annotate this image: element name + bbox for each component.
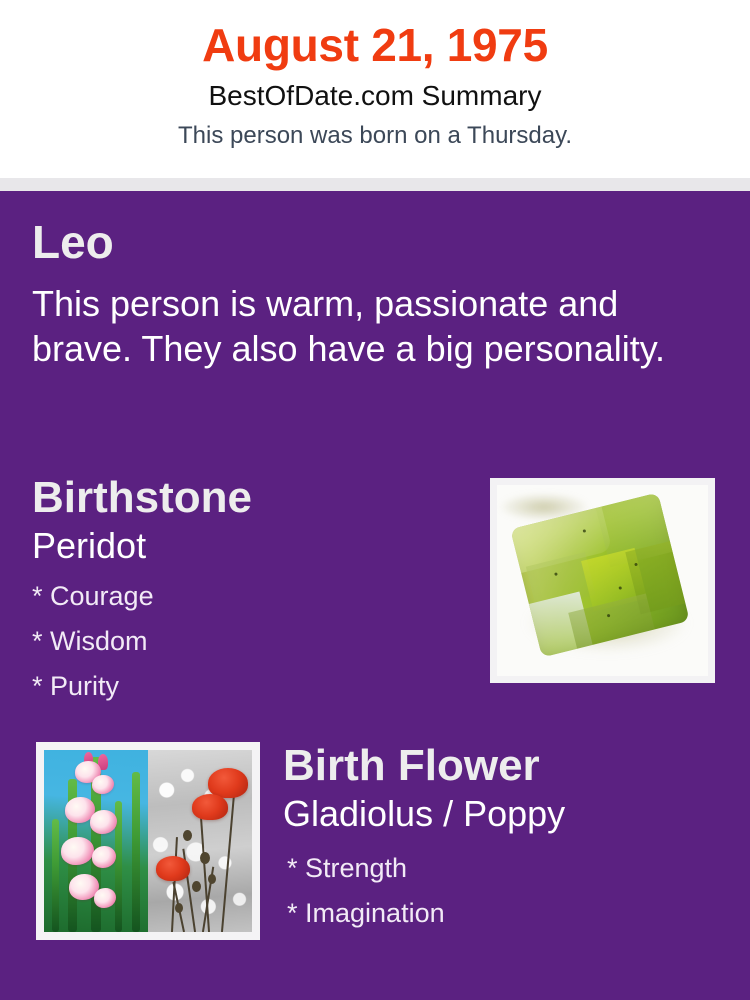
summary-card: August 21, 1975 BestOfDate.com Summary T… — [0, 0, 750, 1000]
header: August 21, 1975 BestOfDate.com Summary T… — [0, 0, 750, 178]
list-item: * Wisdom — [32, 619, 462, 664]
birthstone-section: Birthstone Peridot * Courage * Wisdom * … — [32, 476, 462, 709]
poppy-seed-pod — [175, 903, 183, 913]
zodiac-description: This person is warm, passionate and brav… — [32, 265, 682, 371]
gladiolus-bloom — [94, 888, 116, 908]
birth-flower-image — [44, 750, 252, 932]
poppy-bloom — [156, 856, 190, 881]
birth-flower-trait-list: * Strength * Imagination — [283, 832, 723, 936]
birthstone-title: Birthstone — [32, 476, 462, 520]
details-panel: Leo This person is warm, passionate and … — [0, 191, 750, 1000]
birthstone-image — [497, 485, 708, 676]
header-divider — [0, 178, 750, 191]
birth-flower-image-frame — [36, 742, 260, 940]
poppy-seed-pod — [192, 881, 201, 892]
site-name: BestOfDate.com Summary — [0, 68, 750, 110]
gladiolus-bloom — [61, 837, 94, 865]
poppy-seed-pod — [208, 874, 216, 884]
birthstone-name: Peridot — [32, 520, 462, 564]
poppy-seed-pod — [200, 852, 210, 864]
poppy-photo-half — [148, 750, 252, 932]
list-item: * Imagination — [283, 891, 723, 936]
poppy-seed-pod — [183, 830, 192, 841]
birth-weekday-note: This person was born on a Thursday. — [0, 110, 750, 148]
zodiac-sign-title: Leo — [32, 219, 692, 265]
zodiac-section: Leo This person is warm, passionate and … — [32, 219, 692, 371]
birthstone-image-frame — [490, 478, 715, 683]
gladiolus-bloom — [92, 846, 116, 868]
birthstone-trait-list: * Courage * Wisdom * Purity — [32, 564, 462, 709]
gladiolus-photo-half — [44, 750, 148, 932]
birth-flower-section: Birth Flower Gladiolus / Poppy * Strengt… — [283, 744, 723, 936]
birth-flower-title: Birth Flower — [283, 744, 723, 788]
page-title-date: August 21, 1975 — [0, 0, 750, 68]
list-item: * Courage — [32, 574, 462, 619]
gladiolus-bloom — [90, 810, 117, 834]
gladiolus-bloom — [92, 775, 114, 794]
gladiolus-stalk — [132, 772, 140, 932]
poppy-bloom — [192, 794, 228, 820]
list-item: * Purity — [32, 664, 462, 709]
birth-flower-name: Gladiolus / Poppy — [283, 788, 723, 832]
gladiolus-stalk — [52, 819, 59, 932]
list-item: * Strength — [283, 846, 723, 891]
